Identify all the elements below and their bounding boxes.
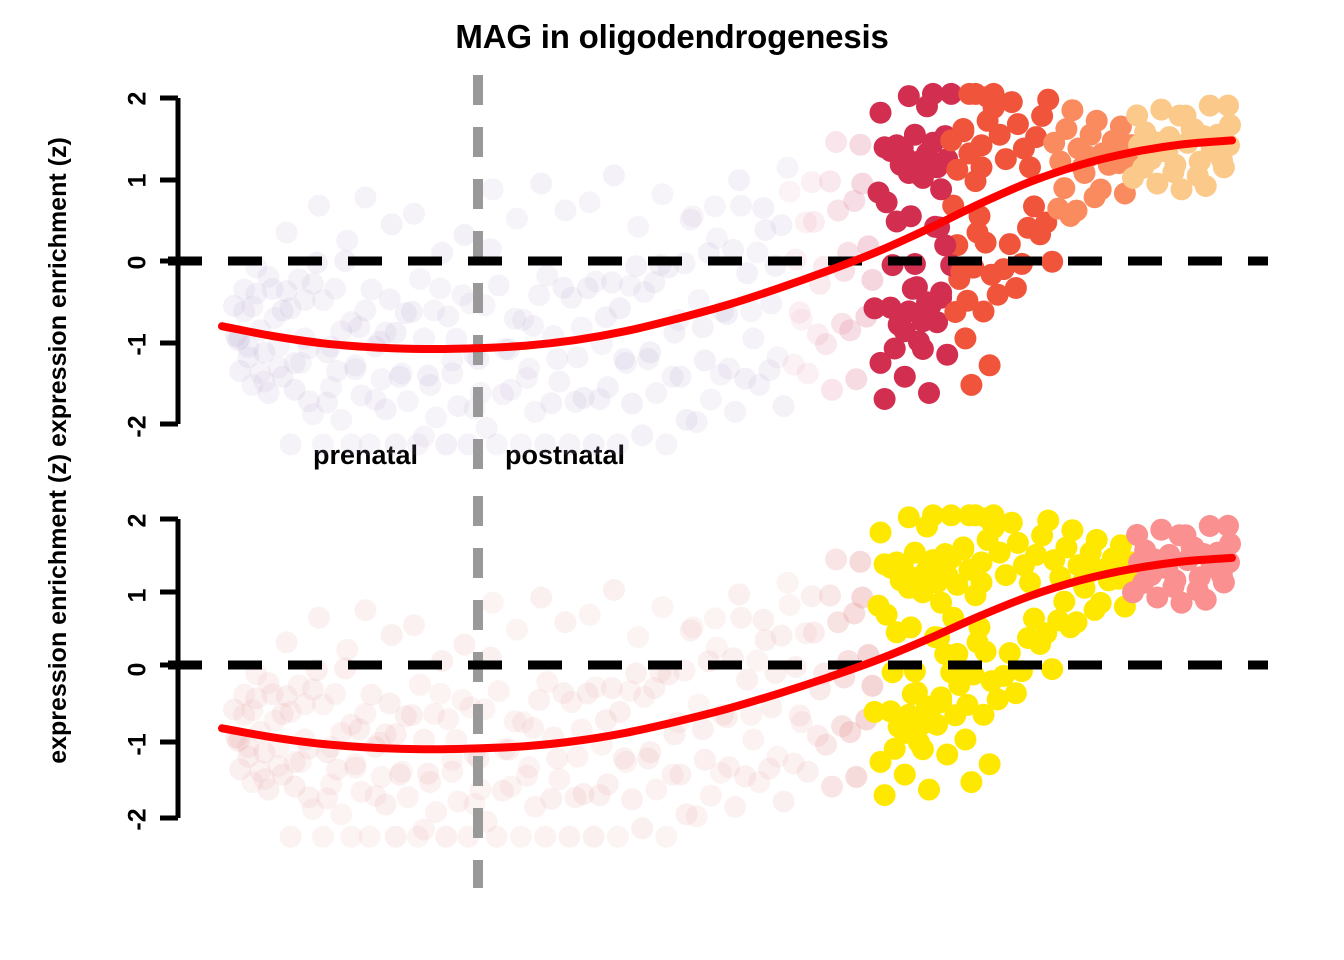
scatter-point	[728, 169, 750, 191]
scatter-point	[870, 102, 892, 124]
scatter-point	[655, 826, 677, 848]
scatter-point	[803, 622, 825, 644]
scatter-point	[728, 583, 750, 605]
scatter-point	[655, 433, 677, 455]
scatter-point	[821, 379, 843, 401]
plot-canvas	[0, 0, 1344, 960]
scatter-point	[777, 572, 799, 594]
scatter-point	[391, 363, 413, 385]
scatter-point	[534, 826, 556, 848]
scatter-point	[682, 616, 704, 638]
scatter-point	[413, 426, 435, 448]
scatter-point	[627, 216, 649, 238]
scatter-point	[419, 771, 441, 793]
scatter-point	[692, 718, 714, 740]
scatter-point	[506, 619, 528, 641]
scatter-point	[621, 393, 643, 415]
scatter-point	[419, 374, 441, 396]
scatter-point	[1217, 95, 1239, 117]
scatter-point	[631, 817, 653, 839]
scatter-point	[771, 625, 793, 647]
scatter-point	[548, 371, 570, 393]
scatter-point	[597, 773, 619, 795]
scatter-point	[651, 596, 673, 618]
scatter-point	[409, 674, 431, 696]
scatter-point	[979, 753, 1001, 775]
scatter-point	[900, 616, 922, 638]
scatter-point	[742, 327, 764, 349]
scatter-point	[815, 734, 837, 756]
scatter-point	[930, 282, 952, 304]
scatter-point	[425, 801, 447, 823]
scatter-point	[900, 205, 922, 227]
scatter-point	[876, 191, 898, 213]
scatter-point	[936, 744, 958, 766]
scatter-point	[607, 433, 629, 455]
scatter-point	[1066, 200, 1088, 222]
scatter-point	[359, 433, 381, 455]
scatter-point	[1086, 110, 1108, 132]
scatter-point	[1005, 682, 1027, 704]
scatter-point	[546, 747, 568, 769]
scatter-point	[518, 756, 540, 778]
scatter-point	[651, 183, 673, 205]
scatter-point	[280, 826, 302, 848]
scatter-point	[704, 607, 726, 629]
scatter-point	[1090, 592, 1112, 614]
scatter-point	[1053, 591, 1075, 613]
scatter-point	[385, 433, 407, 455]
scatter-point	[861, 675, 883, 697]
scatter-point	[797, 761, 819, 783]
scatter-point	[700, 785, 722, 807]
scatter-point	[825, 131, 847, 153]
scatter-point	[908, 731, 930, 753]
scatter-point	[874, 388, 896, 410]
scatter-point	[609, 297, 631, 319]
scatter-point	[615, 352, 637, 374]
scatter-point	[819, 585, 841, 607]
scatter-point	[385, 322, 407, 344]
scatter-point	[621, 788, 643, 810]
scatter-point	[821, 776, 843, 798]
scatter-point	[530, 587, 552, 609]
scatter-point	[1005, 277, 1027, 299]
scatter-point	[354, 703, 376, 725]
scatter-point	[918, 779, 940, 801]
scatter-point	[482, 592, 504, 614]
scatter-point	[1061, 519, 1083, 541]
scatter-point	[280, 433, 302, 455]
scatter-point	[429, 278, 451, 300]
scatter-point	[815, 333, 837, 355]
scatter-point	[488, 680, 510, 702]
scatter-point	[381, 624, 403, 646]
scatter-point	[1061, 99, 1083, 121]
scatter-point	[730, 607, 752, 629]
scatter-point	[453, 224, 475, 246]
scatter-point	[797, 363, 819, 385]
scatter-point	[1090, 179, 1112, 201]
scatter-point	[625, 662, 647, 684]
scatter-point	[956, 290, 978, 312]
scatter-point	[930, 686, 952, 708]
scatter-point	[548, 768, 570, 790]
scatter-point	[324, 278, 346, 300]
scatter-point	[960, 771, 982, 793]
scatter-point	[1007, 113, 1029, 135]
scatter-point	[742, 729, 764, 751]
scatter-points-bottom-panel	[223, 504, 1241, 847]
scatter-point	[736, 669, 758, 691]
scatter-point	[752, 197, 774, 219]
scatter-point	[583, 826, 605, 848]
scatter-point	[752, 609, 774, 631]
scatter-point	[1055, 118, 1077, 140]
scatter-point	[803, 211, 825, 233]
scatter-point	[530, 173, 552, 195]
scatter-point	[276, 222, 298, 244]
scatter-point	[874, 784, 896, 806]
scatter-point	[845, 766, 867, 788]
scatter-point	[779, 181, 801, 203]
scatter-point	[534, 433, 556, 455]
scatter-point	[849, 551, 871, 573]
scatter-point	[639, 741, 661, 763]
scatter-point	[894, 366, 916, 388]
scatter-point	[1213, 156, 1235, 178]
scatter-point	[918, 382, 940, 404]
scatter-point	[359, 826, 381, 848]
scatter-point	[488, 274, 510, 296]
scatter-point	[579, 191, 601, 213]
scatter-point	[401, 301, 423, 323]
scatter-point	[330, 409, 352, 431]
scatter-point	[627, 626, 649, 648]
scatter-point	[870, 522, 892, 544]
scatter-point	[704, 195, 726, 217]
scatter-point	[908, 331, 930, 353]
scatter-point	[522, 315, 544, 337]
scatter-point	[583, 433, 605, 455]
scatter-point	[546, 348, 568, 370]
scatter-point	[960, 374, 982, 396]
scatter-point	[670, 366, 692, 388]
scatter-point	[397, 390, 419, 412]
scatter-point	[975, 641, 997, 663]
scatter-point	[324, 683, 346, 705]
scatter-point	[401, 704, 423, 726]
scatter-point	[312, 433, 334, 455]
scatter-point	[965, 170, 987, 192]
scatter-point	[894, 764, 916, 786]
scatter-point	[518, 358, 540, 380]
scatter-point	[510, 826, 532, 848]
scatter-point	[375, 794, 397, 816]
scatter-point	[1066, 611, 1088, 633]
scatter-point	[1007, 532, 1029, 554]
scatter-point	[692, 316, 714, 338]
scatter-point	[603, 579, 625, 601]
scatter-point	[437, 708, 459, 730]
scatter-point	[773, 395, 795, 417]
scatter-point	[724, 796, 746, 818]
scatter-point	[1001, 91, 1023, 113]
scatter-point	[403, 203, 425, 225]
scatter-point	[344, 354, 366, 376]
scatter-point	[385, 826, 407, 848]
scatter-point	[354, 599, 376, 621]
scatter-point	[975, 232, 997, 254]
scatter-point	[730, 195, 752, 217]
scatter-points-top-panel	[223, 83, 1241, 456]
scatter-point	[1195, 589, 1217, 611]
scatter-point	[344, 753, 366, 775]
scatter-point	[999, 233, 1021, 255]
scatter-point	[1037, 89, 1059, 111]
scatter-point	[453, 634, 475, 656]
figure-root: MAG in oligodendrogenesis expression enr…	[0, 0, 1344, 960]
scatter-point	[1213, 572, 1235, 594]
scatter-point	[567, 746, 589, 768]
scatter-point	[354, 299, 376, 321]
scatter-point	[777, 157, 799, 179]
scatter-point	[979, 354, 1001, 376]
scatter-point	[486, 433, 508, 455]
scatter-point	[1219, 114, 1241, 136]
scatter-point	[435, 433, 457, 455]
scatter-point	[603, 164, 625, 186]
scatter-point	[437, 305, 459, 327]
scatter-point	[849, 134, 871, 156]
scatter-point	[528, 284, 550, 306]
scatter-point	[403, 614, 425, 636]
scatter-point	[540, 788, 562, 810]
scatter-point	[540, 392, 562, 414]
scatter-point	[554, 200, 576, 222]
scatter-point	[558, 433, 580, 455]
scatter-point	[375, 398, 397, 420]
scatter-point	[607, 826, 629, 848]
scatter-point	[954, 729, 976, 751]
scatter-point	[579, 604, 601, 626]
scatter-point	[276, 631, 298, 653]
scatter-point	[930, 178, 952, 200]
scatter-point	[773, 791, 795, 813]
scatter-point	[312, 826, 334, 848]
scatter-point	[308, 195, 330, 217]
scatter-point	[952, 118, 974, 140]
scatter-point	[1219, 533, 1241, 555]
scatter-point	[936, 344, 958, 366]
scatter-point	[506, 208, 528, 230]
scatter-point	[930, 592, 952, 614]
scatter-point	[429, 683, 451, 705]
scatter-point	[615, 751, 637, 773]
scatter-point	[397, 786, 419, 808]
scatter-point	[336, 639, 358, 661]
scatter-point	[639, 341, 661, 363]
scatter-point	[682, 205, 704, 227]
scatter-point	[597, 376, 619, 398]
scatter-point	[482, 178, 504, 200]
scatter-point	[645, 382, 667, 404]
scatter-point	[771, 214, 793, 236]
scatter-point	[409, 268, 431, 290]
scatter-point	[934, 234, 956, 256]
scatter-point	[1086, 529, 1108, 551]
scatter-point	[558, 826, 580, 848]
scatter-point	[354, 186, 376, 208]
scatter-point	[670, 764, 692, 786]
scatter-point	[381, 213, 403, 235]
scatter-point	[1041, 251, 1063, 273]
scatter-point	[746, 650, 768, 672]
scatter-point	[391, 761, 413, 783]
scatter-point	[845, 368, 867, 390]
scatter-point	[791, 309, 813, 331]
scatter-point	[746, 242, 768, 264]
scatter-point	[1041, 658, 1063, 680]
scatter-point	[425, 407, 447, 429]
scatter-point	[956, 694, 978, 716]
scatter-point	[330, 803, 352, 825]
scatter-point	[609, 701, 631, 723]
scatter-point	[554, 611, 576, 633]
scatter-point	[686, 805, 708, 827]
scatter-point	[952, 536, 974, 558]
scatter-point	[567, 346, 589, 368]
scatter-point	[825, 548, 847, 570]
scatter-point	[336, 230, 358, 252]
scatter-point	[1164, 154, 1186, 176]
scatter-point	[645, 779, 667, 801]
scatter-point	[779, 594, 801, 616]
scatter-point	[819, 170, 841, 192]
scatter-point	[522, 717, 544, 739]
scatter-point	[1037, 510, 1059, 532]
scatter-point	[1001, 512, 1023, 534]
scatter-point	[435, 826, 457, 848]
scatter-point	[1195, 175, 1217, 197]
scatter-point	[700, 389, 722, 411]
scatter-point	[625, 255, 647, 277]
scatter-point	[965, 584, 987, 606]
scatter-point	[724, 401, 746, 423]
scatter-point	[510, 433, 532, 455]
scatter-point	[1053, 177, 1075, 199]
scatter-point	[486, 826, 508, 848]
scatter-point	[631, 424, 653, 446]
scatter-point	[686, 411, 708, 433]
scatter-point	[954, 327, 976, 349]
scatter-point	[1164, 569, 1186, 591]
scatter-point	[861, 269, 883, 291]
scatter-point	[308, 607, 330, 629]
